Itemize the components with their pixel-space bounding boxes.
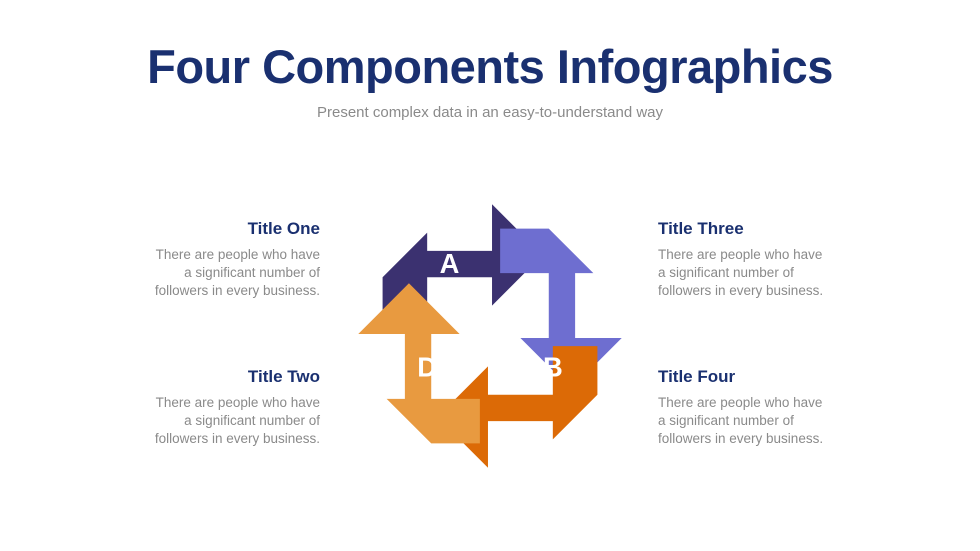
text-block-two[interactable]: Title Two There are people who have a si… (90, 367, 320, 448)
block-three-body-line-3: followers in every business. (658, 282, 888, 300)
block-two-body-line-1: There are people who have (90, 394, 320, 412)
block-three-body: There are people who have a significant … (658, 246, 888, 300)
block-four-body: There are people who have a significant … (658, 394, 888, 448)
text-block-three[interactable]: Title Three There are people who have a … (658, 219, 888, 300)
text-block-four[interactable]: Title Four There are people who have a s… (658, 367, 888, 448)
segment-group (358, 204, 621, 467)
block-one-body-line-2: a significant number of (90, 264, 320, 282)
slide-canvas: Four Components Infographics Present com… (0, 0, 980, 551)
page-title: Four Components Infographics (0, 42, 980, 91)
block-four-body-line-1: There are people who have (658, 394, 888, 412)
text-block-one[interactable]: Title One There are people who have a si… (90, 219, 320, 300)
block-three-body-line-2: a significant number of (658, 264, 888, 282)
block-one-body-line-3: followers in every business. (90, 282, 320, 300)
block-four-title: Title Four (658, 367, 888, 387)
block-one-body: There are people who have a significant … (90, 246, 320, 300)
page-subtitle: Present complex data in an easy-to-under… (0, 104, 980, 122)
block-four-body-line-2: a significant number of (658, 412, 888, 430)
block-two-body-line-2: a significant number of (90, 412, 320, 430)
block-three-body-line-1: There are people who have (658, 246, 888, 264)
cycle-diagram: A B C D (338, 182, 642, 490)
block-four-body-line-3: followers in every business. (658, 430, 888, 448)
block-three-title: Title Three (658, 219, 888, 239)
block-two-body: There are people who have a significant … (90, 394, 320, 448)
header: Four Components Infographics Present com… (0, 42, 980, 122)
block-two-body-line-3: followers in every business. (90, 430, 320, 448)
block-one-title: Title One (90, 219, 320, 239)
segment-b-letter: B (543, 352, 563, 383)
segment-c-letter: C (521, 455, 541, 486)
segment-a-letter: A (440, 248, 460, 279)
block-one-body-line-1: There are people who have (90, 246, 320, 264)
block-two-title: Title Two (90, 367, 320, 387)
segment-d-letter: D (417, 352, 437, 383)
